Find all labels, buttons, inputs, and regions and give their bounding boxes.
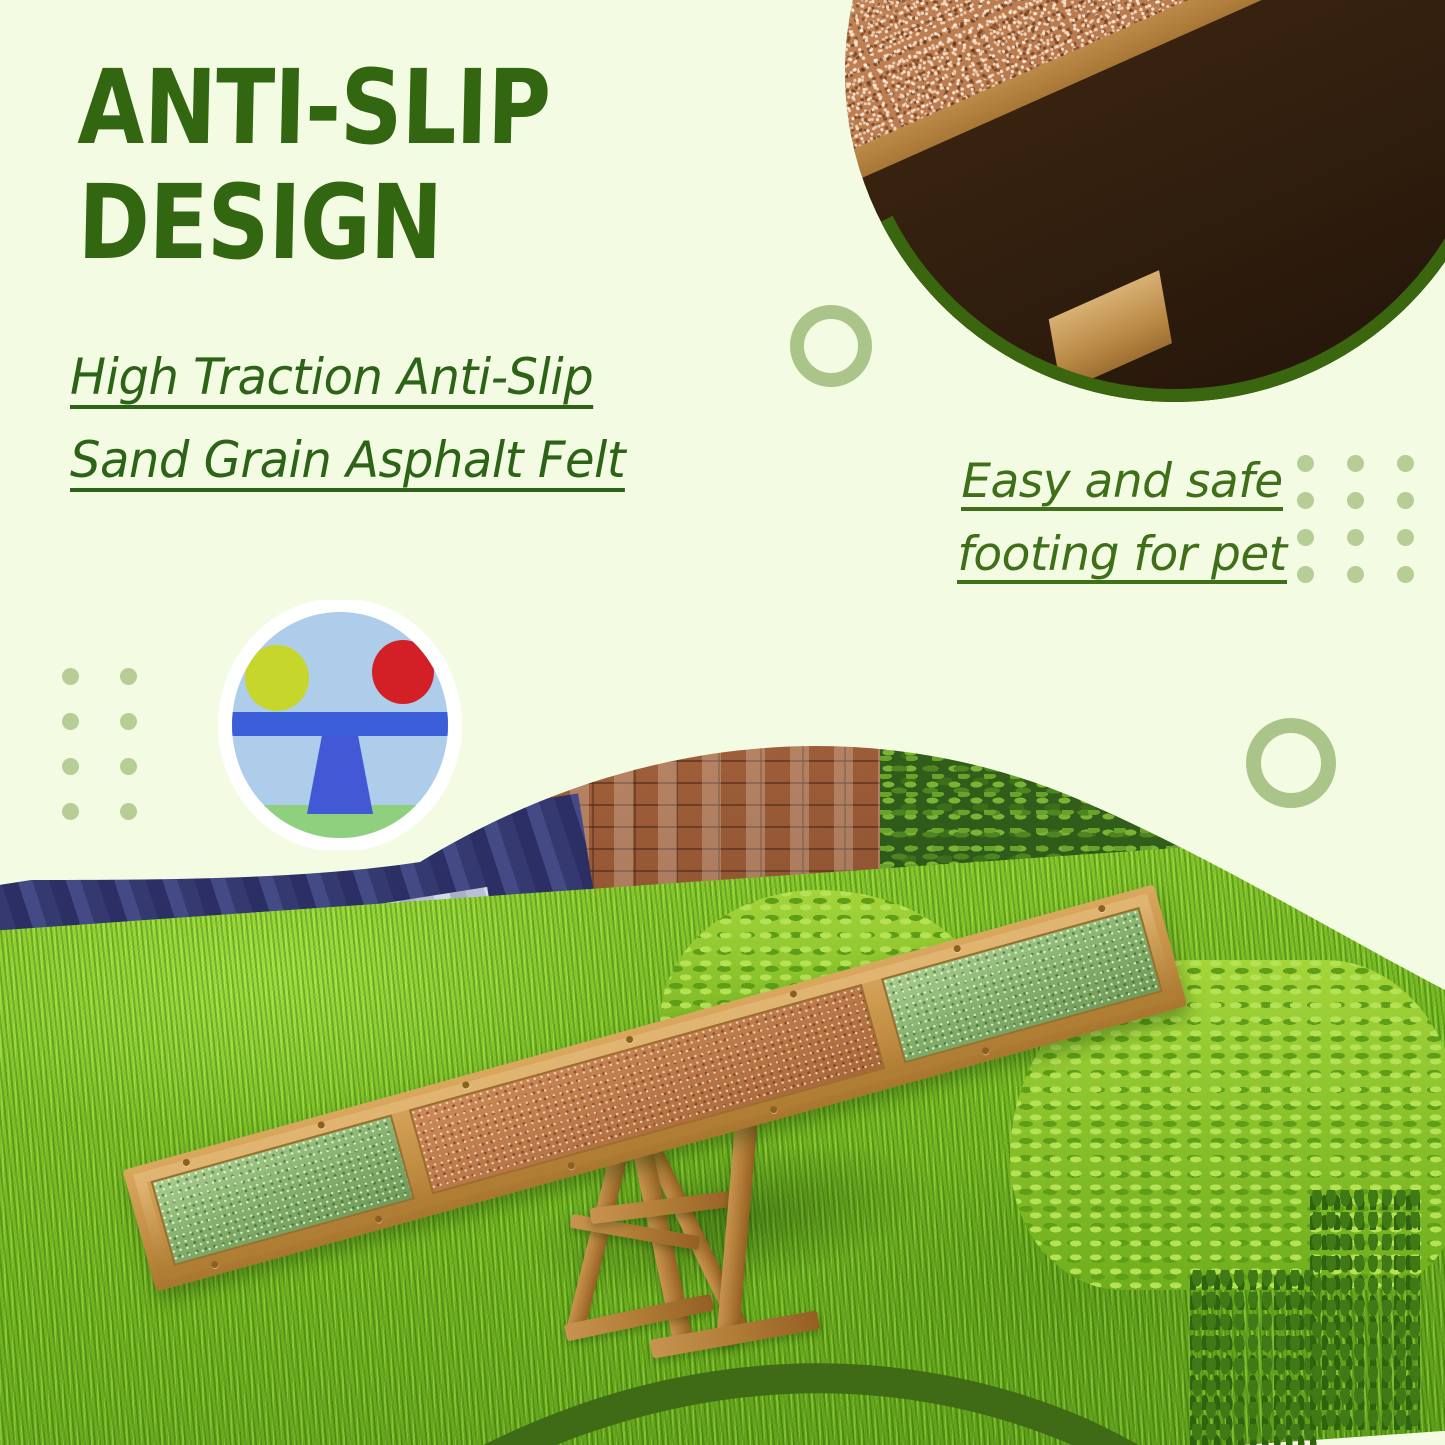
pet-seesaw-illustration-badge — [205, 600, 475, 850]
dot — [1347, 492, 1364, 509]
dot — [1397, 492, 1414, 509]
dot — [1397, 566, 1414, 583]
plant-sprig — [1190, 1270, 1320, 1445]
subheading-block: High Traction Anti-Slip Sand Grain Aspha… — [70, 352, 770, 492]
badge-seesaw-plank — [219, 712, 461, 736]
dot — [1347, 455, 1364, 472]
feature-caption-line-2: footing for pet — [957, 531, 1286, 584]
dot — [1397, 455, 1414, 472]
subheading-line-1: High Traction Anti-Slip — [70, 352, 593, 409]
dot — [1347, 566, 1364, 583]
page-title: ANTI-SLIP DESIGN — [78, 58, 798, 274]
frame-leg — [716, 1112, 758, 1345]
dot — [1397, 529, 1414, 546]
dot — [1347, 529, 1364, 546]
feature-caption-block: Easy and safe footing for pet — [932, 458, 1312, 584]
headline-line-1: ANTI-SLIP — [77, 58, 684, 159]
subheading-line-2: Sand Grain Asphalt Felt — [70, 435, 625, 492]
product-feature-poster: ANTI-SLIP DESIGN High Traction Anti-Slip… — [0, 0, 1445, 1445]
dot-grid-right-decoration — [1297, 455, 1445, 603]
feature-caption-line-1: Easy and safe — [961, 458, 1282, 511]
pet-seesaw-product — [100, 885, 1230, 1355]
headline-line-2: DESIGN — [77, 173, 684, 274]
plant-sprig — [1310, 1190, 1420, 1430]
